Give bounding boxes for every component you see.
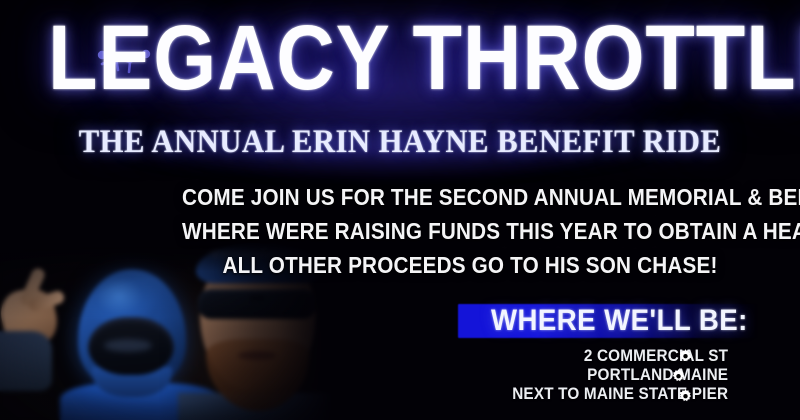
gear-icon [670,368,687,385]
gear-icon [677,348,694,365]
location-heading: WHERE WE'LL BE: [483,302,768,340]
page-title: LEGACY THROTTLE [48,14,752,102]
gear-icon [677,388,694,405]
description-line: ALL OTHER PROCEEDS GO TO HIS SON CHASE! [182,248,758,282]
event-flyer: LEGACY THROTTLE THE ANNUAL ERIN HAYNE BE… [0,0,800,420]
page-subtitle: THE ANNUAL ERIN HAYNE BENEFIT RIDE [28,124,772,161]
event-description: COME JOIN US FOR THE SECOND ANNUAL MEMOR… [182,180,758,282]
description-line: COME JOIN US FOR THE SECOND ANNUAL MEMOR… [182,180,758,214]
venue-address: 2 COMMERCIAL ST PORTLAND MAINE NEXT TO M… [478,346,748,403]
gear-icon-stack [668,348,702,410]
location-block: WHERE WE'LL BE: 2 COMMERCIAL ST PORTLAND… [440,298,790,416]
description-line: WHERE WERE RAISING FUNDS THIS YEAR TO OB… [182,214,758,248]
